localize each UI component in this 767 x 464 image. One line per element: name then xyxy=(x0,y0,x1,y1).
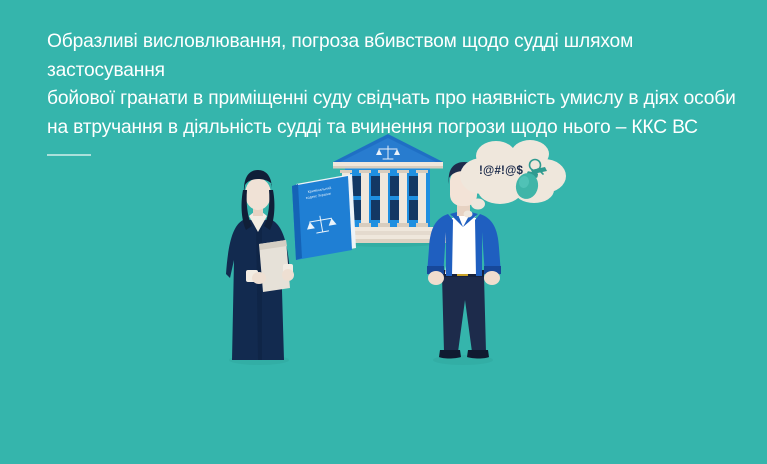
judge-figure xyxy=(226,170,294,365)
law-book-icon: Кримінальний кодекс України xyxy=(292,174,356,260)
thought-bubble: !@#!@$ xyxy=(460,140,566,218)
page-title: Образливі висловлювання, погроза вбивств… xyxy=(47,28,737,142)
illustration: Кримінальний кодекс України xyxy=(0,128,767,464)
thought-bubble-text: !@#!@$ xyxy=(479,165,523,177)
banner-canvas: Образливі висловлювання, погроза вбивств… xyxy=(0,0,767,464)
